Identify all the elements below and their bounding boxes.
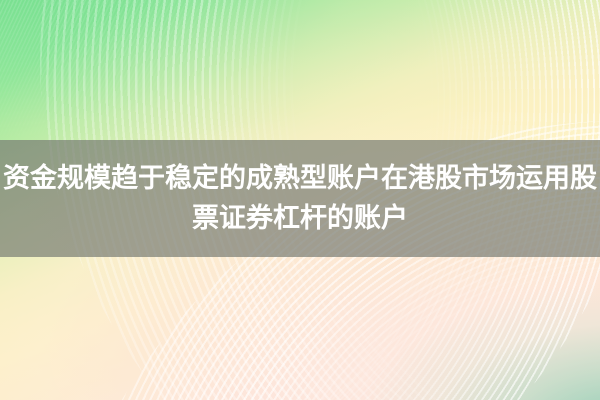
caption-text: 资金规模趋于稳定的成熟型账户在港股市场运用股票证券杠杆的账户 [0, 159, 600, 239]
caption-band: 资金规模趋于稳定的成熟型账户在港股市场运用股票证券杠杆的账户 [0, 140, 600, 257]
banner-graphic: 资金规模趋于稳定的成熟型账户在港股市场运用股票证券杠杆的账户 [0, 0, 600, 400]
